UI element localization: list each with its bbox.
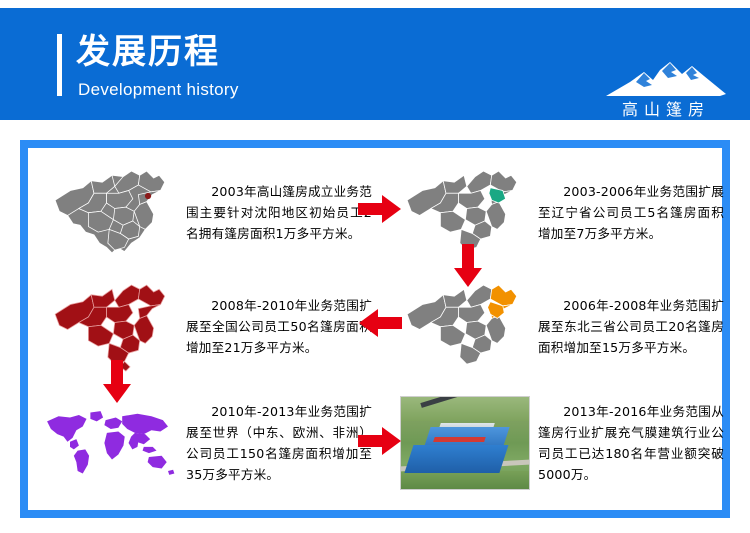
- arrow-right-step1: [358, 194, 402, 224]
- photo-field-top: [401, 397, 529, 421]
- china-map-shenyang: [42, 160, 182, 264]
- slide-root: 发展历程 Development history 高山篷房: [0, 0, 750, 533]
- timeline-text: 2003年高山篷房成立业务范围主要针对沈阳地区初始员工2名拥有篷房面积1万多平方…: [182, 181, 372, 244]
- company-logo: 高山篷房: [600, 60, 732, 118]
- photo-red-strip: [434, 437, 487, 442]
- factory-aerial-photo: [394, 391, 534, 495]
- mountain-icon: [600, 60, 732, 98]
- map-marker-shenyang: [145, 193, 151, 199]
- arrow-left-step3: [358, 308, 402, 338]
- photo-roof-main: [404, 445, 508, 473]
- timeline-item-2010-2013[interactable]: 2010年-2013年业务范围扩展至世界（中东、欧洲、非洲）公司员工150名篷房…: [42, 388, 372, 498]
- timeline-grid: 2003年高山篷房成立业务范围主要针对沈阳地区初始员工2名拥有篷房面积1万多平方…: [28, 148, 722, 510]
- timeline-item-2003[interactable]: 2003年高山篷房成立业务范围主要针对沈阳地区初始员工2名拥有篷房面积1万多平方…: [42, 158, 372, 266]
- timeline-text: 2013年-2016年业务范围从篷房行业扩展充气膜建筑行业公司员工已达180名年…: [534, 401, 724, 485]
- page-subtitle: Development history: [78, 80, 239, 100]
- world-map-global: [42, 391, 182, 495]
- factory-photo-image: [400, 396, 530, 490]
- photo-field-bottom: [401, 471, 529, 489]
- arrow-down-step4: [102, 360, 132, 404]
- timeline-text: 2006年-2008年业务范围扩展至东北三省公司员工20名篷房面积增加至15万多…: [534, 295, 724, 358]
- timeline-item-2013-2016[interactable]: 2013年-2016年业务范围从篷房行业扩展充气膜建筑行业公司员工已达180名年…: [394, 388, 724, 498]
- timeline-text: 2003-2006年业务范围扩展至辽宁省公司员工5名篷房面积增加至7万多平方米。: [534, 181, 724, 244]
- timeline-item-2003-2006[interactable]: 2003-2006年业务范围扩展至辽宁省公司员工5名篷房面积增加至7万多平方米。: [394, 158, 724, 266]
- arrow-down-step2: [453, 244, 483, 288]
- page-header: 发展历程 Development history 高山篷房: [0, 8, 750, 120]
- timeline-item-2008-2010[interactable]: 2008年-2010年业务范围扩展至全国公司员工50名篷房面积增加至21万多平方…: [42, 272, 372, 380]
- logo-text: 高山篷房: [600, 96, 732, 120]
- content-frame: 2003年高山篷房成立业务范围主要针对沈阳地区初始员工2名拥有篷房面积1万多平方…: [20, 140, 730, 518]
- china-map-northeast-three-provinces: [394, 274, 534, 378]
- timeline-text: 2010年-2013年业务范围扩展至世界（中东、欧洲、非洲）公司员工150名篷房…: [182, 401, 372, 485]
- timeline-item-2006-2008[interactable]: 2006年-2008年业务范围扩展至东北三省公司员工20名篷房面积增加至15万多…: [394, 272, 724, 380]
- page-title: 发展历程: [76, 32, 220, 72]
- arrow-right-step5: [358, 426, 402, 456]
- map-highlight-northeast: [488, 285, 517, 318]
- title-accent-bar: [57, 34, 62, 96]
- timeline-text: 2008年-2010年业务范围扩展至全国公司员工50名篷房面积增加至21万多平方…: [182, 295, 372, 358]
